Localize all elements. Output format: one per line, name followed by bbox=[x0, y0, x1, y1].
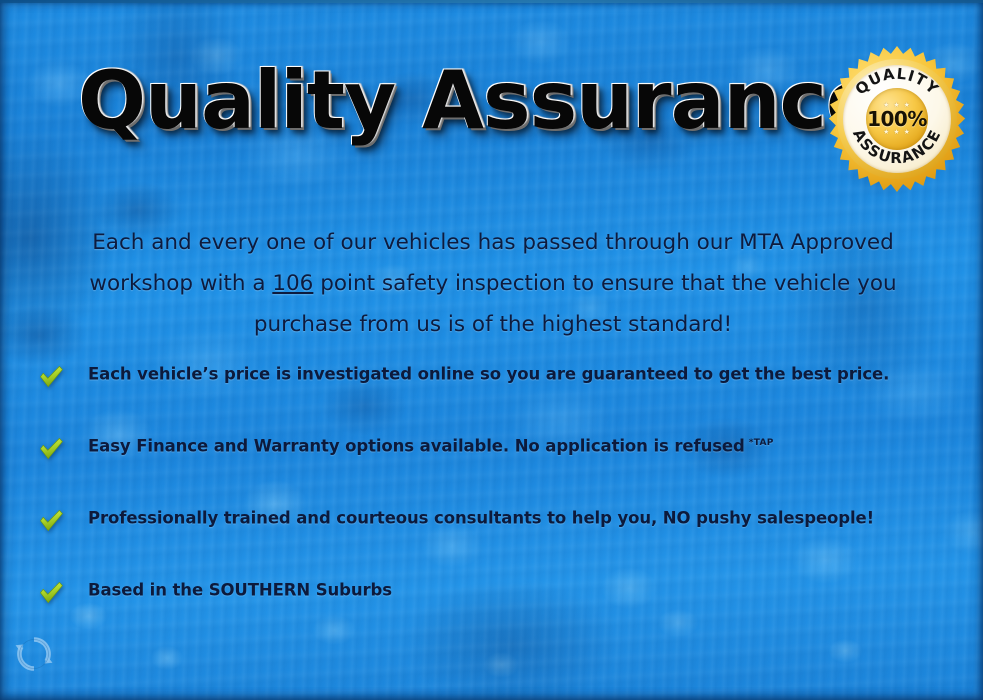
list-item-label: Based in the SOUTHERN Suburbs bbox=[88, 574, 396, 604]
list-item: Each vehicle’s price is investigated onl… bbox=[36, 358, 946, 430]
badge-bottom-arc-label: ASSURANCE bbox=[849, 126, 945, 167]
badge-top-arc-label: QUALITY bbox=[852, 65, 943, 99]
quality-assurance-poster: Quality Assurance! ★ ★ ★ 100% ★ ★ ★ QUAL… bbox=[0, 0, 983, 700]
list-item-text: Based in the SOUTHERN Suburbs bbox=[88, 581, 392, 600]
inspection-point-count: 106 bbox=[272, 271, 313, 296]
list-item-label: Easy Finance and Warranty options availa… bbox=[88, 430, 774, 460]
check-icon bbox=[36, 434, 66, 464]
check-icon bbox=[36, 362, 66, 392]
list-item-text: Each vehicle’s price is investigated onl… bbox=[88, 365, 889, 384]
list-item-note: *TAP bbox=[749, 438, 774, 448]
list-item: Professionally trained and courteous con… bbox=[36, 502, 946, 574]
recycle-icon bbox=[14, 634, 54, 674]
page-title: Quality Assurance! bbox=[78, 54, 915, 147]
list-item-text: Easy Finance and Warranty options availa… bbox=[88, 437, 745, 456]
list-item-label: Professionally trained and courteous con… bbox=[88, 502, 878, 532]
intro-paragraph: Each and every one of our vehicles has p… bbox=[60, 222, 926, 345]
list-item: Based in the SOUTHERN Suburbs bbox=[36, 574, 946, 646]
check-icon bbox=[36, 578, 66, 608]
list-item-label: Each vehicle’s price is investigated onl… bbox=[88, 358, 893, 388]
check-icon bbox=[36, 506, 66, 536]
benefits-list: Each vehicle’s price is investigated onl… bbox=[36, 358, 946, 646]
paragraph-part-after: point safety inspection to ensure that t… bbox=[254, 271, 897, 337]
quality-assurance-badge-icon: ★ ★ ★ 100% ★ ★ ★ QUALITY ASSURANCE bbox=[824, 46, 970, 192]
list-item: Easy Finance and Warranty options availa… bbox=[36, 430, 946, 502]
list-item-text: Professionally trained and courteous con… bbox=[88, 509, 874, 528]
badge-arc-text: QUALITY ASSURANCE bbox=[824, 46, 970, 192]
